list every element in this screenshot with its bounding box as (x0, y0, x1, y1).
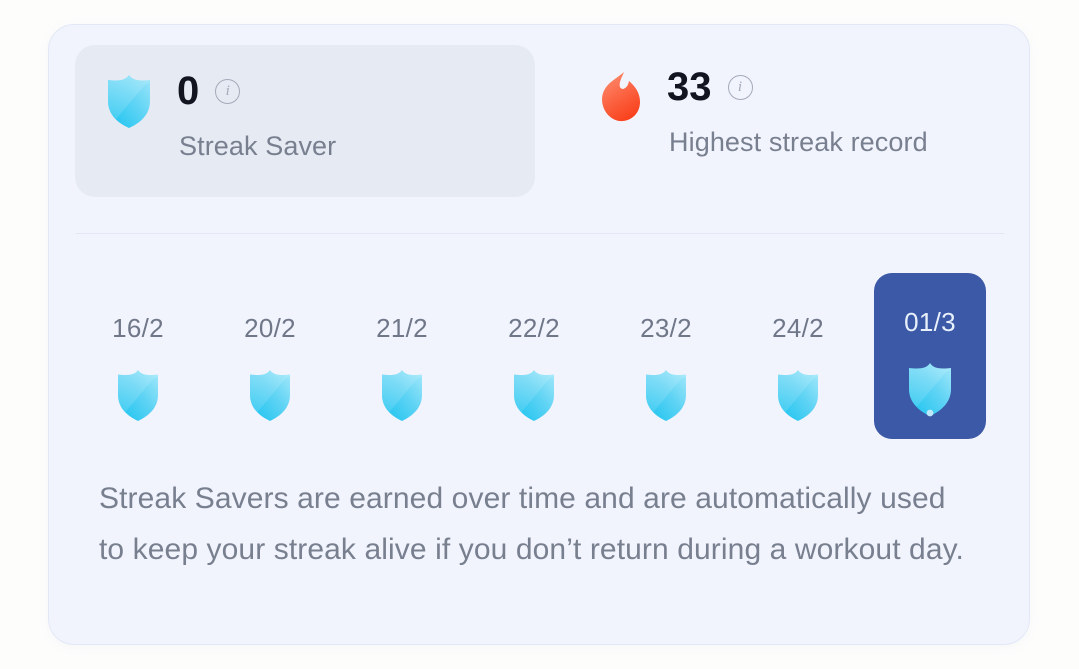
highest-streak-label: Highest streak record (669, 127, 928, 158)
stats-row: 0 i Streak Saver (49, 25, 1029, 233)
streak-saver-value: 0 (177, 71, 199, 111)
streak-day-label: 16/2 (112, 315, 164, 341)
streak-day-label: 01/3 (904, 309, 956, 335)
shield-icon (247, 368, 293, 422)
streak-day-4[interactable]: 23/2 (610, 295, 722, 420)
info-icon[interactable]: i (728, 75, 753, 100)
stat-value-row: 0 i (177, 71, 240, 111)
streak-day-0[interactable]: 16/2 (82, 295, 194, 420)
shield-icon (906, 361, 954, 418)
stat-card-content: 33 i Highest streak record (577, 45, 1007, 197)
shield-icon (643, 368, 689, 422)
streak-saver-label: Streak Saver (179, 131, 336, 162)
app-root: 0 i Streak Saver (0, 0, 1079, 669)
streak-day-label: 24/2 (772, 315, 824, 341)
shield-icon (105, 73, 153, 129)
stat-value-row: 33 i (667, 67, 753, 107)
streak-saver-description: Streak Savers are earned over time and a… (99, 473, 979, 575)
streak-saver-panel: 0 i Streak Saver (48, 24, 1030, 645)
shield-icon (511, 368, 557, 422)
streak-day-2[interactable]: 21/2 (346, 295, 458, 420)
streak-day-6-active[interactable]: 01/3 (874, 273, 986, 439)
streak-day-label: 22/2 (508, 315, 560, 341)
streak-day-label: 20/2 (244, 315, 296, 341)
stat-card-highest-streak[interactable]: 33 i Highest streak record (577, 45, 1007, 197)
shield-icon (775, 368, 821, 422)
stat-card-content: 0 i Streak Saver (75, 45, 535, 197)
streak-day-1[interactable]: 20/2 (214, 295, 326, 420)
flame-icon (597, 69, 645, 125)
highest-streak-value: 33 (667, 67, 712, 107)
shield-icon (115, 368, 161, 422)
streak-day-3[interactable]: 22/2 (478, 295, 590, 420)
streak-day-label: 23/2 (640, 315, 692, 341)
stat-card-streak-saver[interactable]: 0 i Streak Saver (75, 45, 535, 197)
shield-icon (379, 368, 425, 422)
streak-day-5[interactable]: 24/2 (742, 295, 854, 420)
streak-day-label: 21/2 (376, 315, 428, 341)
streak-days-row: 16/2 (76, 273, 1006, 441)
section-divider (76, 233, 1004, 234)
info-icon[interactable]: i (215, 79, 240, 104)
